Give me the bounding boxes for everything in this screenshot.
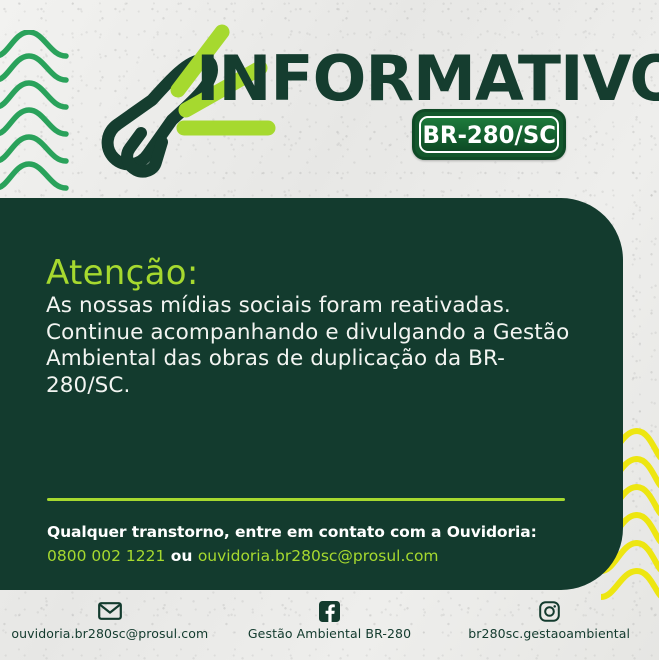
social-label-instagram: br280sc.gestaoambiental [468, 626, 630, 641]
message-panel: Atenção: As nossas mídias sociais foram … [0, 198, 623, 590]
badge-inner: BR-280/SC [419, 116, 559, 153]
badge-label: BR-280/SC [422, 121, 555, 149]
social-item-instagram[interactable]: br280sc.gestaoambiental [439, 600, 659, 660]
email-icon [98, 600, 122, 622]
social-footer: ouvidoria.br280sc@prosul.com Gestão Ambi… [0, 600, 659, 660]
social-item-facebook[interactable]: Gestão Ambiental BR-280 [220, 600, 440, 660]
header: INFORMATIVO BR-280/SC [0, 0, 659, 200]
br280sc-badge: BR-280/SC [412, 109, 566, 160]
contact-phone[interactable]: 0800 002 1221 [47, 547, 165, 565]
social-item-email[interactable]: ouvidoria.br280sc@prosul.com [0, 600, 220, 660]
green-wave-decoration [0, 30, 74, 200]
attention-heading: Atenção: [46, 253, 199, 293]
contact-lead: Qualquer transtorno, entre em contato co… [47, 523, 537, 541]
page-title: INFORMATIVO [196, 42, 659, 115]
facebook-icon [319, 600, 340, 622]
contact-email[interactable]: ouvidoria.br280sc@prosul.com [198, 547, 439, 565]
contact-conjunction: ou [165, 547, 197, 565]
message-body: As nossas mídias sociais foram reativada… [46, 293, 576, 399]
divider [47, 498, 565, 501]
social-label-email: ouvidoria.br280sc@prosul.com [11, 626, 208, 641]
instagram-icon [539, 600, 560, 622]
ouvidoria-contact: Qualquer transtorno, entre em contato co… [47, 520, 567, 568]
social-label-facebook: Gestão Ambiental BR-280 [248, 626, 411, 641]
informative-poster: INFORMATIVO BR-280/SC Atenção: As nossas… [0, 0, 659, 660]
